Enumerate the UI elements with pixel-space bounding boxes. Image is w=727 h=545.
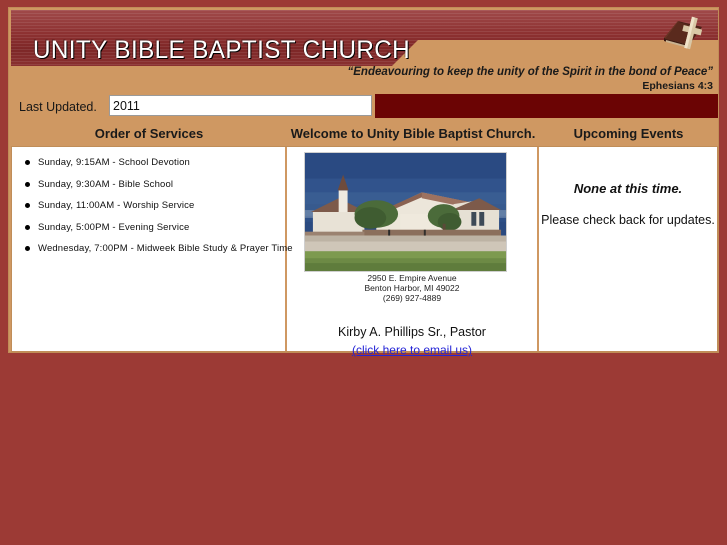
site-frame: UNITY BIBLE BAPTIST CHURCH “Endeavo: [8, 7, 719, 353]
events-note: Please check back for updates.: [539, 213, 717, 227]
list-item: Sunday, 9:30AM - Bible School: [38, 179, 285, 190]
tagline-reference: Ephesians 4:3: [642, 80, 713, 92]
last-updated-row: Last Updated.: [11, 93, 718, 123]
panel-welcome: 2950 E. Empire Avenue Benton Harbor, MI …: [287, 147, 539, 351]
page-root: UNITY BIBLE BAPTIST CHURCH “Endeavo: [0, 0, 727, 545]
church-building-photo: [304, 152, 507, 272]
pastor-name: Kirby A. Phillips Sr., Pastor: [287, 325, 537, 339]
page-title: UNITY BIBLE BAPTIST CHURCH: [33, 36, 410, 65]
list-item: Sunday, 9:15AM - School Devotion: [38, 157, 285, 168]
content-panels: Sunday, 9:15AM - School Devotion Sunday,…: [11, 146, 718, 352]
events-none-message: None at this time.: [539, 181, 717, 196]
header-accent-block: [375, 94, 718, 118]
column-header-services: Order of Services: [11, 126, 287, 141]
last-updated-label: Last Updated.: [19, 100, 97, 114]
services-list: Sunday, 9:15AM - School Devotion Sunday,…: [12, 157, 285, 254]
address-line-2: Benton Harbor, MI 49022: [287, 283, 537, 293]
list-item: Sunday, 5:00PM - Evening Service: [38, 222, 285, 233]
list-item: Wednesday, 7:00PM - Midweek Bible Study …: [38, 243, 285, 254]
column-header-welcome: Welcome to Unity Bible Baptist Church.: [287, 126, 539, 141]
site-banner: UNITY BIBLE BAPTIST CHURCH: [11, 10, 718, 66]
tagline-text: “Endeavouring to keep the unity of the S…: [348, 66, 713, 78]
panel-upcoming-events: None at this time. Please check back for…: [539, 147, 717, 351]
list-item: Sunday, 11:00AM - Worship Service: [38, 200, 285, 211]
email-us-link[interactable]: (click here to email us): [287, 343, 537, 357]
tagline-area: “Endeavouring to keep the unity of the S…: [11, 66, 718, 92]
column-header-events: Upcoming Events: [539, 126, 718, 141]
last-updated-input[interactable]: [109, 95, 372, 116]
column-headers: Order of Services Welcome to Unity Bible…: [11, 124, 718, 146]
address-line-1: 2950 E. Empire Avenue: [287, 273, 537, 283]
bible-cross-icon: [658, 12, 708, 54]
panel-order-of-services: Sunday, 9:15AM - School Devotion Sunday,…: [12, 147, 287, 351]
phone-number: (269) 927-4889: [287, 293, 537, 303]
